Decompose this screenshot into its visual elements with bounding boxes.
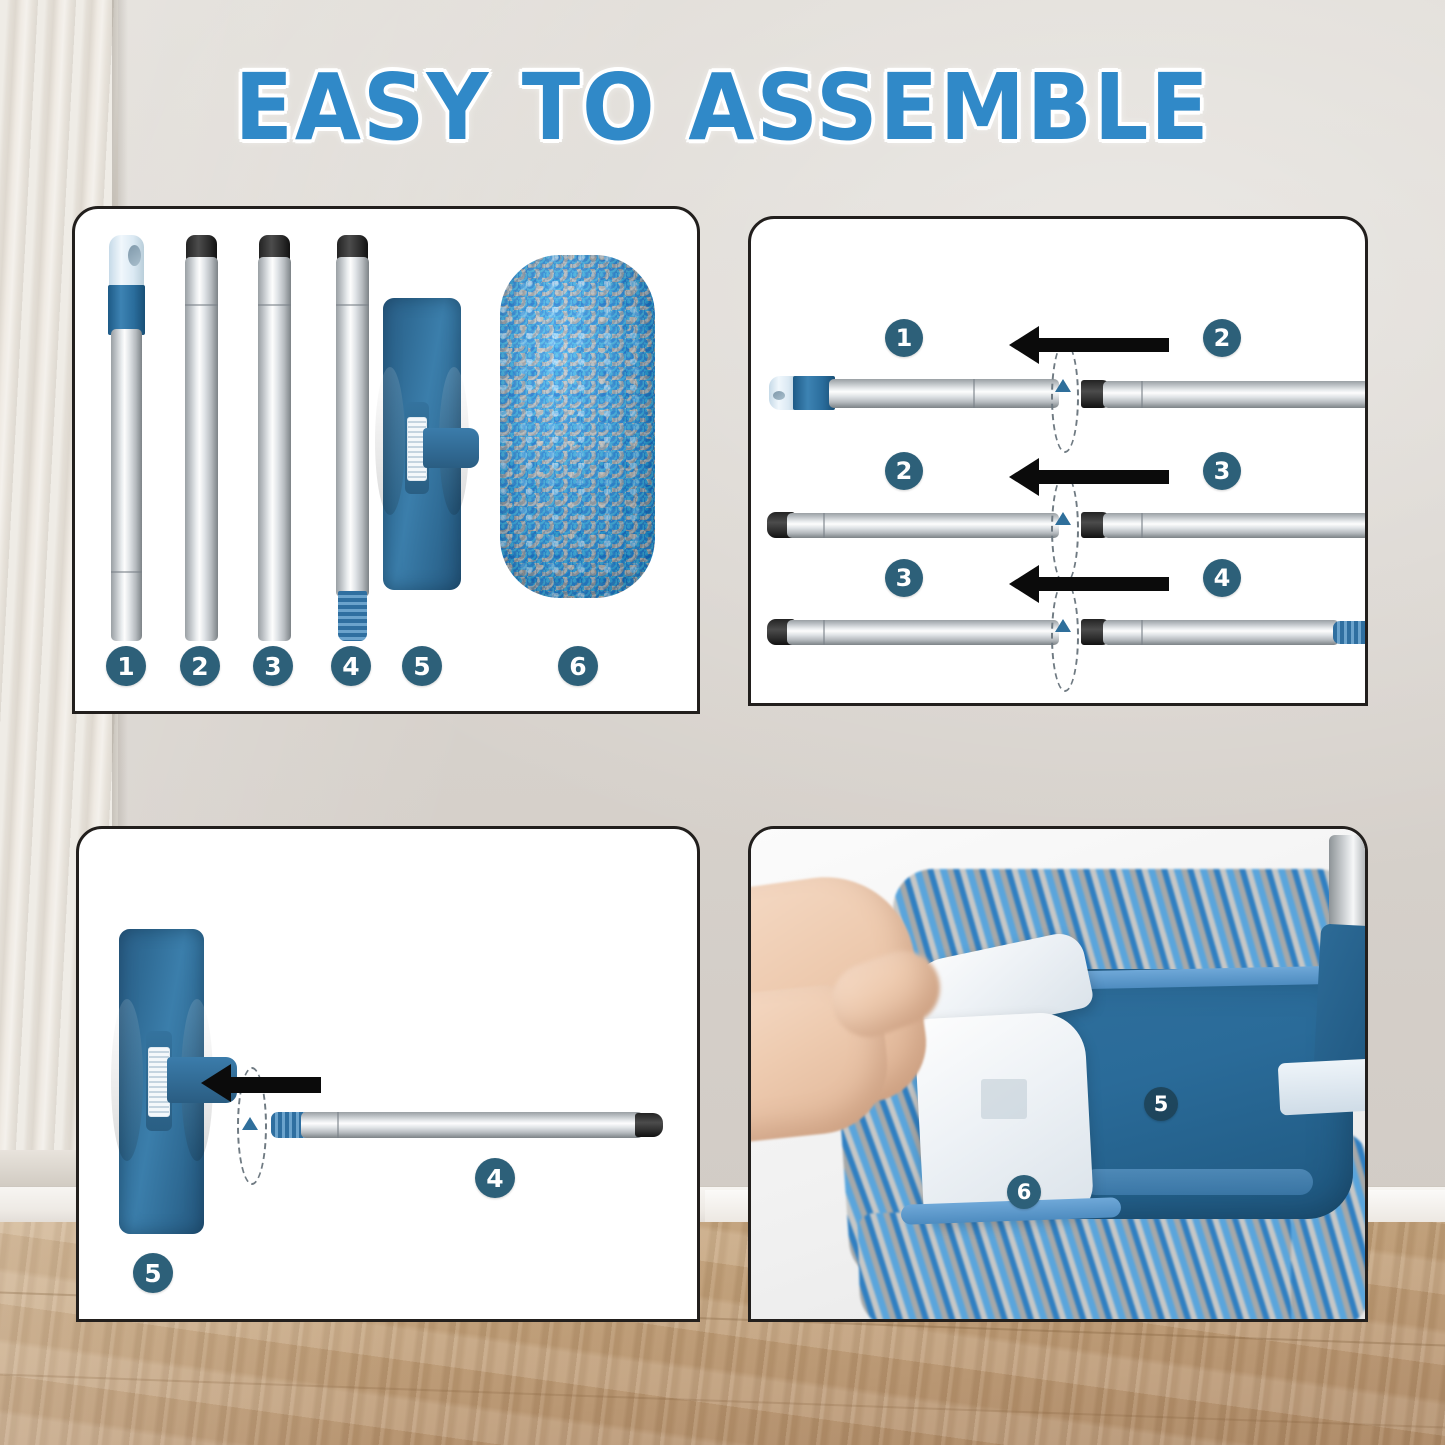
badge-row2-right: 3	[1203, 452, 1241, 490]
badge-row3-left: 3	[885, 559, 923, 597]
badge-head-5-photo: 5	[1144, 1087, 1178, 1121]
panel-pole-assembly: 1 2 2 3	[748, 216, 1368, 706]
panel-parts-overview: 1 2 3 4 5 6	[72, 206, 700, 714]
badge-part-6: 6	[558, 646, 598, 686]
badge-part-4: 4	[331, 646, 371, 686]
head-connector	[1278, 1059, 1368, 1116]
badge-row2-left: 2	[885, 452, 923, 490]
insert-arrow-shaft	[231, 1077, 321, 1093]
infographic-canvas: EASY TO ASSEMBLE	[0, 0, 1445, 1445]
insert-arrow-head	[201, 1064, 231, 1102]
panel-pad-attachment: 5 6	[748, 826, 1368, 1322]
page-title: EASY TO ASSEMBLE	[51, 54, 1395, 161]
panel-head-attachment: 5 4	[76, 826, 700, 1322]
badge-part-3: 3	[253, 646, 293, 686]
badge-part-1: 1	[106, 646, 146, 686]
badge-row1-right: 2	[1203, 319, 1241, 357]
mop-head-inner-lip	[1083, 1169, 1313, 1195]
badge-pole-4: 4	[475, 1158, 515, 1198]
badge-pad-6-photo: 6	[1007, 1175, 1041, 1209]
badge-row3-right: 4	[1203, 559, 1241, 597]
badge-part-5: 5	[402, 646, 442, 686]
badge-head-5: 5	[133, 1253, 173, 1293]
rotation-arrowhead	[242, 1117, 258, 1130]
velcro-flap-tag	[981, 1079, 1027, 1119]
badge-part-2: 2	[180, 646, 220, 686]
badge-row1-left: 1	[885, 319, 923, 357]
